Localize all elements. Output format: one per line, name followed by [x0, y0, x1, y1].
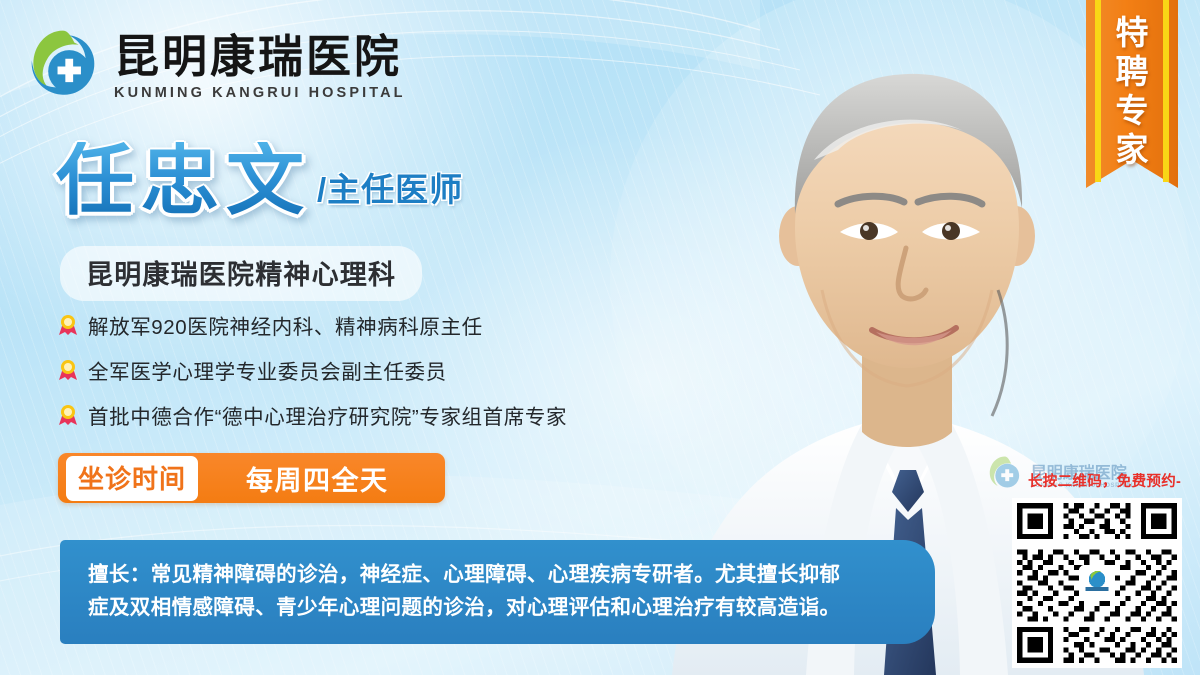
schedule-label: 坐诊时间 [66, 456, 198, 501]
doctor-department: 昆明康瑞医院精神心理科 [60, 246, 422, 301]
medal-rosette-icon [58, 314, 78, 336]
banner-stage: 昆明康瑞医院 KUNMING KANGRUI HOSPITAL 任忠文 /主任医… [0, 0, 1200, 675]
list-item: 解放军920医院神经内科、精神病科原主任 [58, 305, 567, 345]
specialty-box: 擅长：常见精神障碍的诊治，神经症、心理障碍、心理疾病专研者。尤其擅长抑郁 症及双… [60, 540, 935, 644]
list-item: 首批中德合作“德中心理治疗研究院”专家组首席专家 [58, 395, 567, 435]
ribbon-char: 家 [1116, 133, 1149, 168]
doctor-title: /主任医师 [317, 163, 463, 211]
specialty-line-2: 症及双相情感障碍、青少年心理问题的诊治，对心理评估和心理治疗有较高造诣。 [88, 591, 905, 624]
leaf-cross-circle-logo-icon [985, 451, 1025, 497]
doctor-name: 任忠文 [56, 142, 311, 220]
credential-list: 解放军920医院神经内科、精神病科原主任 全军医学心理学专业委员会副主任委员 首… [58, 305, 567, 440]
specialty-line-1: 擅长：常见精神障碍的诊治，神经症、心理障碍、心理疾病专研者。尤其擅长抑郁 [88, 558, 905, 591]
schedule-value: 每周四全天 [246, 459, 389, 498]
qr-code[interactable] [1012, 498, 1182, 668]
hospital-name-cn: 昆明康瑞医院 [114, 33, 406, 80]
leaf-cross-circle-logo-icon [24, 26, 102, 104]
credential-text: 全军医学心理学专业委员会副主任委员 [88, 355, 447, 385]
medal-rosette-icon [58, 404, 78, 426]
ribbon-char: 特 [1116, 16, 1149, 51]
medal-rosette-icon [58, 359, 78, 381]
ribbon-char: 聘 [1116, 55, 1149, 90]
hospital-logo: 昆明康瑞医院 KUNMING KANGRUI HOSPITAL [24, 26, 406, 104]
credential-text: 首批中德合作“德中心理治疗研究院”专家组首席专家 [88, 400, 567, 430]
ribbon-char: 专 [1116, 94, 1149, 129]
schedule-bar: 坐诊时间 每周四全天 [58, 453, 445, 503]
credential-text: 解放军920医院神经内科、精神病科原主任 [88, 310, 483, 340]
expert-ribbon: 特 聘 专 家 [1086, 0, 1178, 205]
qr-instruction-text: 长按二维码，免费预约- [1028, 470, 1181, 491]
list-item: 全军医学心理学专业委员会副主任委员 [58, 350, 567, 390]
doctor-name-row: 任忠文 /主任医师 [56, 142, 463, 220]
hospital-name-en: KUNMING KANGRUI HOSPITAL [114, 85, 406, 101]
